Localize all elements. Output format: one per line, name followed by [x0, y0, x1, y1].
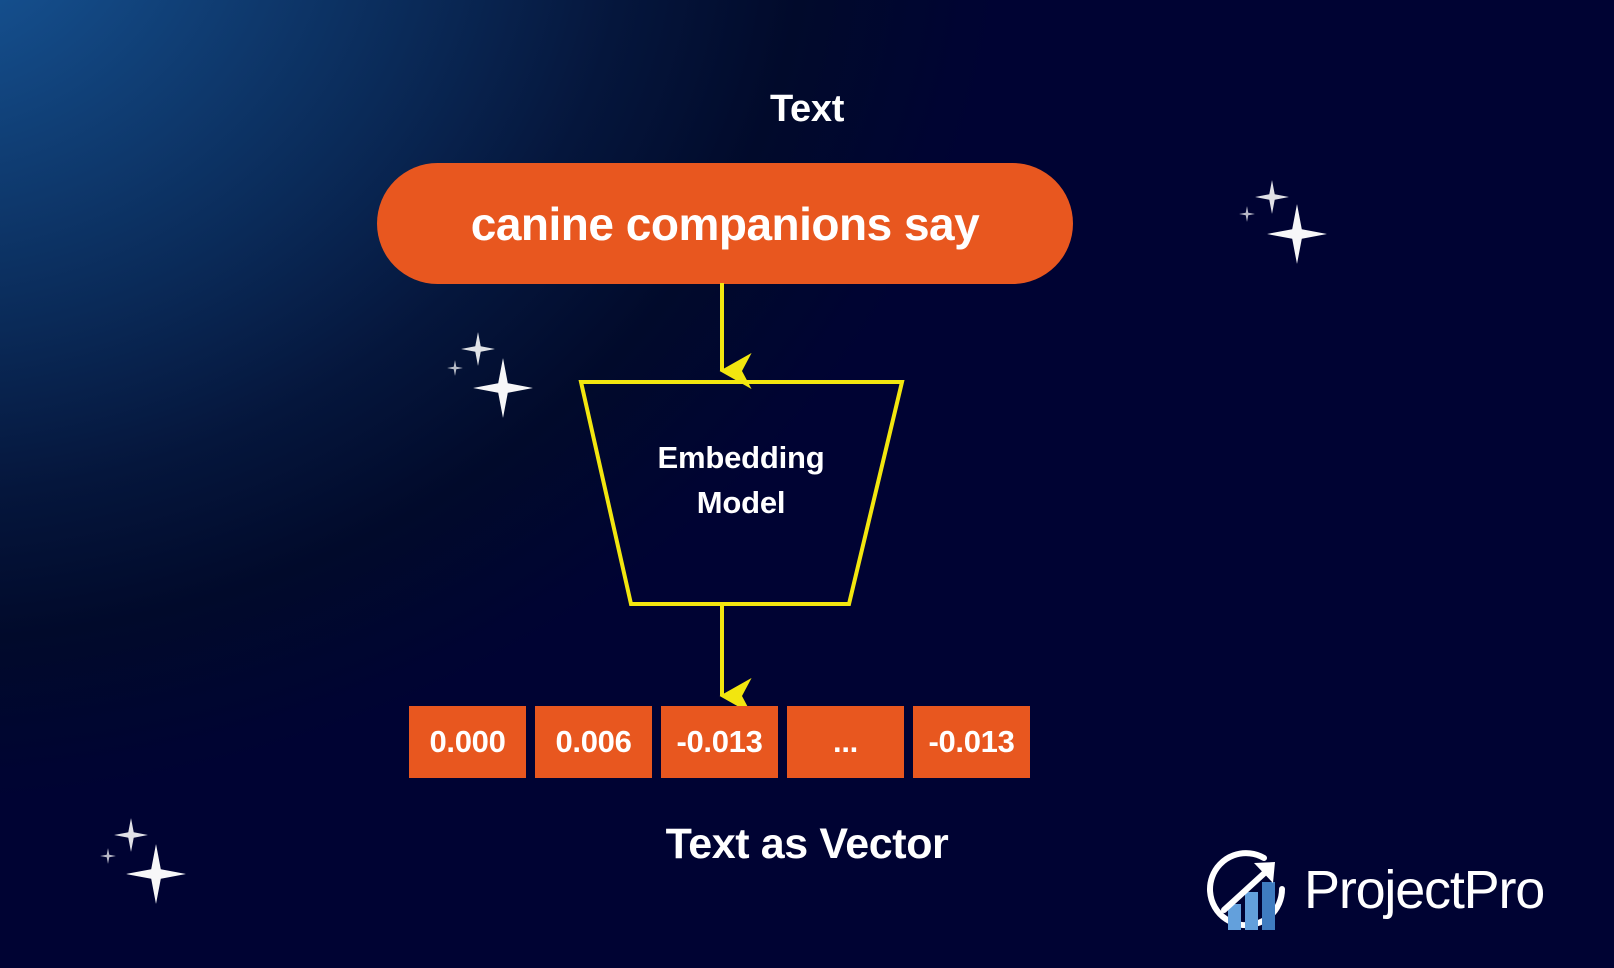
vector-cell: 0.000 — [409, 706, 526, 778]
vector-cell: 0.006 — [535, 706, 652, 778]
embedding-model-label-line2: Model — [580, 481, 902, 526]
diagram-canvas: Text canine companions say Embedding Mod… — [0, 0, 1614, 968]
vector-cell: -0.013 — [913, 706, 1030, 778]
growth-chart-circle-icon — [1196, 842, 1292, 938]
projectpro-wordmark: ProjectPro — [1304, 863, 1544, 917]
vector-cell: ... — [787, 706, 904, 778]
embedding-model-label: Embedding Model — [580, 436, 902, 526]
vector-cell: -0.013 — [661, 706, 778, 778]
projectpro-logo: ProjectPro — [1196, 842, 1544, 938]
embedding-model-label-line1: Embedding — [580, 436, 902, 481]
vector-cells-row: 0.0000.006-0.013...-0.013 — [409, 706, 1030, 778]
